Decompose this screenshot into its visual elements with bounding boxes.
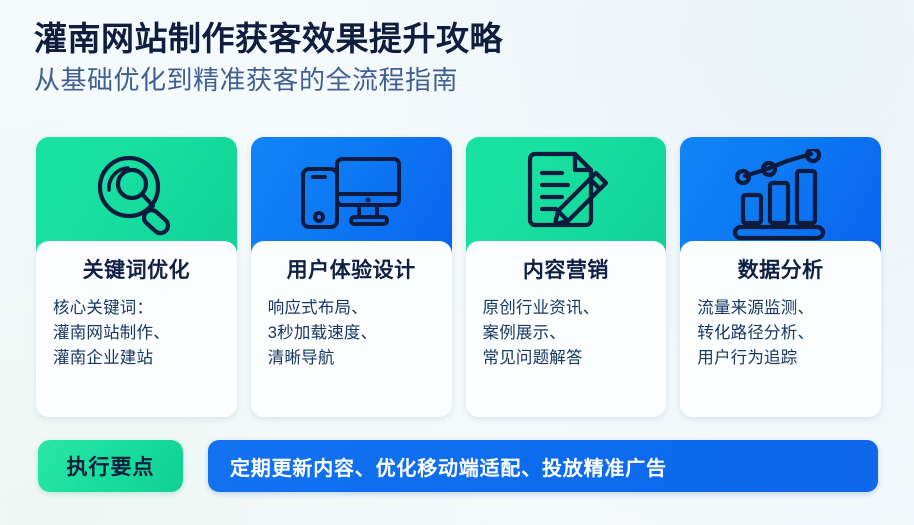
card-desc-line: 流量来源监测、 — [697, 296, 867, 321]
card-desc-line: 灌南企业建站 — [53, 346, 223, 371]
card-description: 原创行业资讯、 案例展示、 常见问题解答 — [480, 296, 653, 371]
document-pencil-icon — [518, 149, 614, 241]
feature-card-content[interactable]: 内容营销 原创行业资讯、 案例展示、 常见问题解答 — [466, 137, 667, 417]
page-subtitle: 从基础优化到精准获客的全流程指南 — [34, 62, 874, 98]
poster-root: 灌南网站制作获客效果提升攻略 从基础优化到精准获客的全流程指南 关键词优化 — [0, 0, 914, 525]
card-body-keyword: 关键词优化 核心关键词： 灌南网站制作、 灌南企业建站 — [36, 241, 237, 417]
feature-card-list: 关键词优化 核心关键词： 灌南网站制作、 灌南企业建站 — [36, 137, 881, 417]
devices-icon — [297, 151, 405, 239]
feature-card-analytics[interactable]: 数据分析 流量来源监测、 转化路径分析、 用户行为追踪 — [680, 137, 881, 417]
card-title: 关键词优化 — [50, 257, 223, 285]
footer-action-bar: 执行要点 定期更新内容、优化移动端适配、投放精准广告 — [38, 440, 878, 492]
feature-card-keyword[interactable]: 关键词优化 核心关键词： 灌南网站制作、 灌南企业建站 — [36, 137, 237, 417]
card-title: 内容营销 — [480, 257, 653, 285]
card-description: 流量来源监测、 转化路径分析、 用户行为追踪 — [694, 296, 867, 371]
card-desc-line: 用户行为追踪 — [697, 346, 867, 371]
card-media-ux — [251, 137, 452, 253]
card-description: 响应式布局、 3秒加载速度、 清晰导航 — [265, 296, 438, 371]
card-body-content: 内容营销 原创行业资讯、 案例展示、 常见问题解答 — [466, 241, 667, 417]
card-desc-line: 转化路径分析、 — [697, 321, 867, 346]
card-desc-line: 灌南网站制作、 — [53, 321, 223, 346]
page-title: 灌南网站制作获客效果提升攻略 — [34, 18, 874, 60]
card-title: 数据分析 — [694, 257, 867, 285]
card-body-ux: 用户体验设计 响应式布局、 3秒加载速度、 清晰导航 — [251, 241, 452, 417]
header: 灌南网站制作获客效果提升攻略 从基础优化到精准获客的全流程指南 — [34, 18, 874, 98]
card-media-keyword — [36, 137, 237, 253]
footer-pill-label: 执行要点 — [38, 440, 183, 492]
card-desc-line: 清晰导航 — [268, 346, 438, 371]
card-desc-line: 响应式布局、 — [268, 296, 438, 321]
card-desc-line: 核心关键词： — [53, 296, 223, 321]
card-body-analytics: 数据分析 流量来源监测、 转化路径分析、 用户行为追踪 — [680, 241, 881, 417]
card-media-analytics — [680, 137, 881, 253]
card-media-content — [466, 137, 667, 253]
card-desc-line: 3秒加载速度、 — [268, 321, 438, 346]
card-description: 核心关键词： 灌南网站制作、 灌南企业建站 — [50, 296, 223, 371]
footer-bar-text: 定期更新内容、优化移动端适配、投放精准广告 — [208, 440, 878, 492]
card-title: 用户体验设计 — [265, 257, 438, 285]
card-desc-line: 案例展示、 — [483, 321, 653, 346]
bar-chart-trend-icon — [729, 149, 833, 241]
card-desc-line: 原创行业资讯、 — [483, 296, 653, 321]
feature-card-ux[interactable]: 用户体验设计 响应式布局、 3秒加载速度、 清晰导航 — [251, 137, 452, 417]
magnifier-icon — [87, 149, 185, 241]
card-desc-line: 常见问题解答 — [483, 346, 653, 371]
